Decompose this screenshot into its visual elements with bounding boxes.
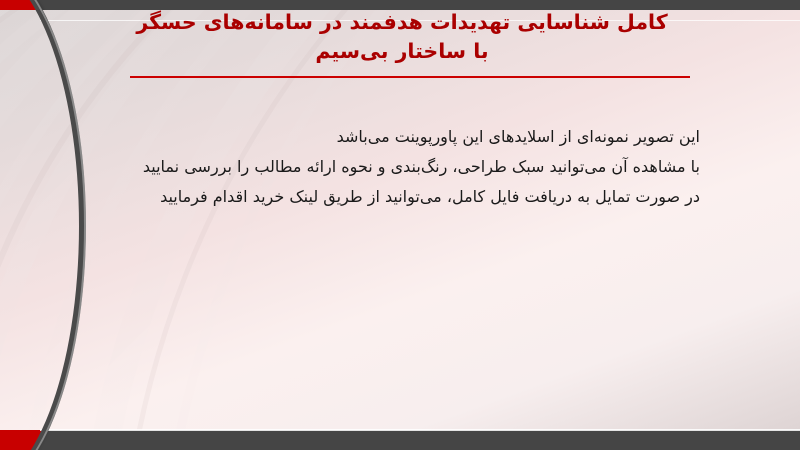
body-line-1: این تصویر نمونه‌ای از اسلایدهای این پاور… [100, 122, 700, 152]
content-panel [0, 10, 800, 430]
body-line-3: در صورت تمایل به دریافت فایل کامل، می‌تو… [100, 182, 700, 212]
body-line-2: با مشاهده آن می‌توانید سبک طراحی، رنگ‌بن… [100, 152, 700, 182]
slide-title-line-2: با ساختار بی‌سیم [112, 37, 692, 66]
slide-canvas: کامل شناسایی تهدیدات هدفمند در سامانه‌ها… [0, 0, 800, 450]
slide-title: کامل شناسایی تهدیدات هدفمند در سامانه‌ها… [112, 8, 692, 66]
title-divider-rule [130, 76, 690, 78]
slide-title-line-1: کامل شناسایی تهدیدات هدفمند در سامانه‌ها… [112, 8, 692, 37]
arc-texture-decoration [0, 10, 800, 430]
slide-body-text: این تصویر نمونه‌ای از اسلایدهای این پاور… [100, 122, 700, 212]
panel-bottom-highlight [40, 429, 800, 431]
